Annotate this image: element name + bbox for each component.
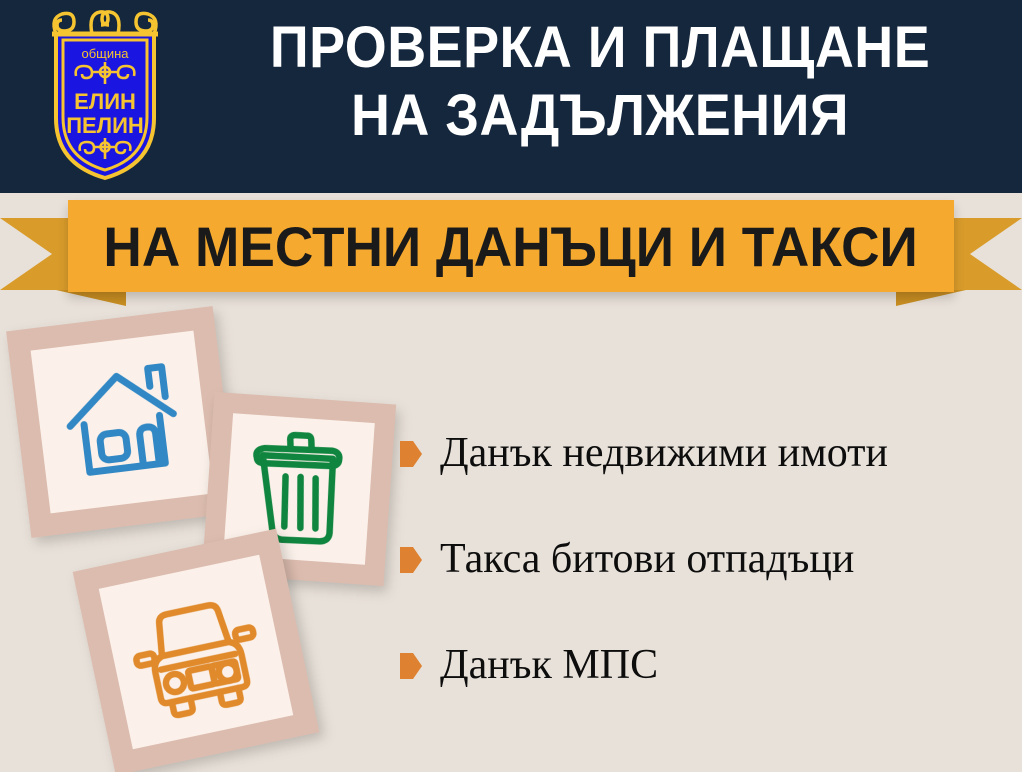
list-item-label: Такса битови отпадъци xyxy=(440,535,854,583)
list-item[interactable]: Данък недвижими имоти xyxy=(400,424,1010,482)
poster-title: ПРОВЕРКА И ПЛАЩАНЕ НА ЗАДЪЛЖЕНИЯ xyxy=(190,14,1010,150)
list-item[interactable]: Такса битови отпадъци xyxy=(400,530,1010,588)
trash-bin-icon xyxy=(256,434,342,544)
title-line-1: ПРОВЕРКА И ПЛАЩАНЕ xyxy=(219,14,982,82)
header-bar: община ЕЛИН ПЕЛИН xyxy=(0,0,1022,193)
logo-name-line2: ПЕЛИН xyxy=(66,113,144,138)
arrow-bullet-icon xyxy=(400,441,422,467)
ribbon-band: НА МЕСТНИ ДАНЪЦИ И ТАКСИ xyxy=(68,200,954,292)
ribbon-fold-right xyxy=(896,290,966,306)
stamp-frame-car xyxy=(73,529,320,772)
logo-name-line1: ЕЛИН xyxy=(74,89,136,114)
arrow-bullet-icon xyxy=(400,547,422,573)
arrow-bullet-icon xyxy=(400,653,422,679)
municipality-logo: община ЕЛИН ПЕЛИН xyxy=(30,6,180,184)
list-item-label: Данък МПС xyxy=(440,641,658,689)
tax-type-list: Данък недвижими имоти Такса битови отпад… xyxy=(400,424,1010,742)
property-stamp xyxy=(6,306,238,538)
list-item[interactable]: Данък МПС xyxy=(400,636,1010,694)
list-item-label: Данък недвижими имоти xyxy=(440,429,888,477)
vehicle-stamp xyxy=(73,529,320,772)
coat-of-arms-icon: община ЕЛИН ПЕЛИН xyxy=(30,6,180,184)
ribbon-fold-left xyxy=(56,290,126,306)
stamp-frame-house xyxy=(6,306,238,538)
ribbon-label: НА МЕСТНИ ДАНЪЦИ И ТАКСИ xyxy=(104,214,918,279)
poster-canvas: община ЕЛИН ПЕЛИН xyxy=(0,0,1022,772)
logo-top-label: община xyxy=(81,46,129,61)
title-line-2: НА ЗАДЪЛЖЕНИЯ xyxy=(219,82,982,150)
subtitle-ribbon: НА МЕСТНИ ДАНЪЦИ И ТАКСИ xyxy=(0,196,1022,306)
